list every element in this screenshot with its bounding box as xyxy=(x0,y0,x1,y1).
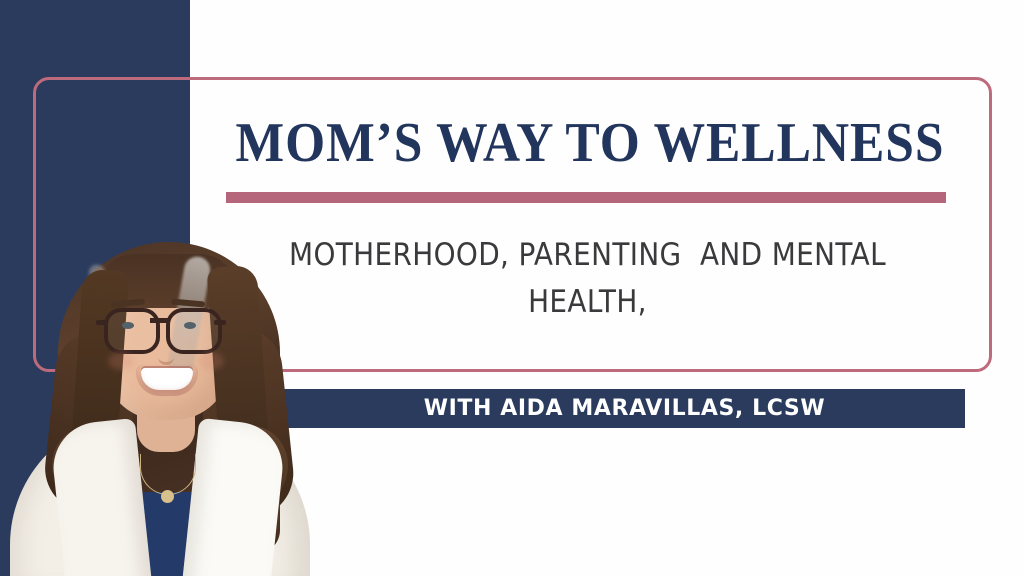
presenter-banner-label: WITH AIDA MARAVILLAS, LCSW xyxy=(424,396,826,421)
portrait-cardigan-lapel-right xyxy=(181,418,287,576)
glasses-temple-left xyxy=(96,320,108,325)
portrait-nose xyxy=(158,344,174,365)
glasses-lens-left-icon xyxy=(104,308,160,354)
presenter-banner: WITH AIDA MARAVILLAS, LCSW xyxy=(284,389,965,428)
glasses-lens-right-icon xyxy=(166,308,222,354)
presenter-portrait-photo xyxy=(0,240,330,576)
page-subtitle: MOTHERHOOD, PARENTING AND MENTAL HEALTH, xyxy=(261,232,914,326)
glasses-temple-right xyxy=(214,320,226,325)
presentation-slide: MOM’S WAY TO WELLNESS MOTHERHOOD, PARENT… xyxy=(0,0,1024,576)
page-title: MOM’S WAY TO WELLNESS xyxy=(222,112,958,174)
title-underline-rule xyxy=(226,192,946,203)
glasses-bridge xyxy=(150,318,168,323)
portrait-necklace-pendant xyxy=(161,490,174,503)
portrait-cheek-right xyxy=(198,352,224,370)
portrait-cheek-left xyxy=(108,352,134,370)
